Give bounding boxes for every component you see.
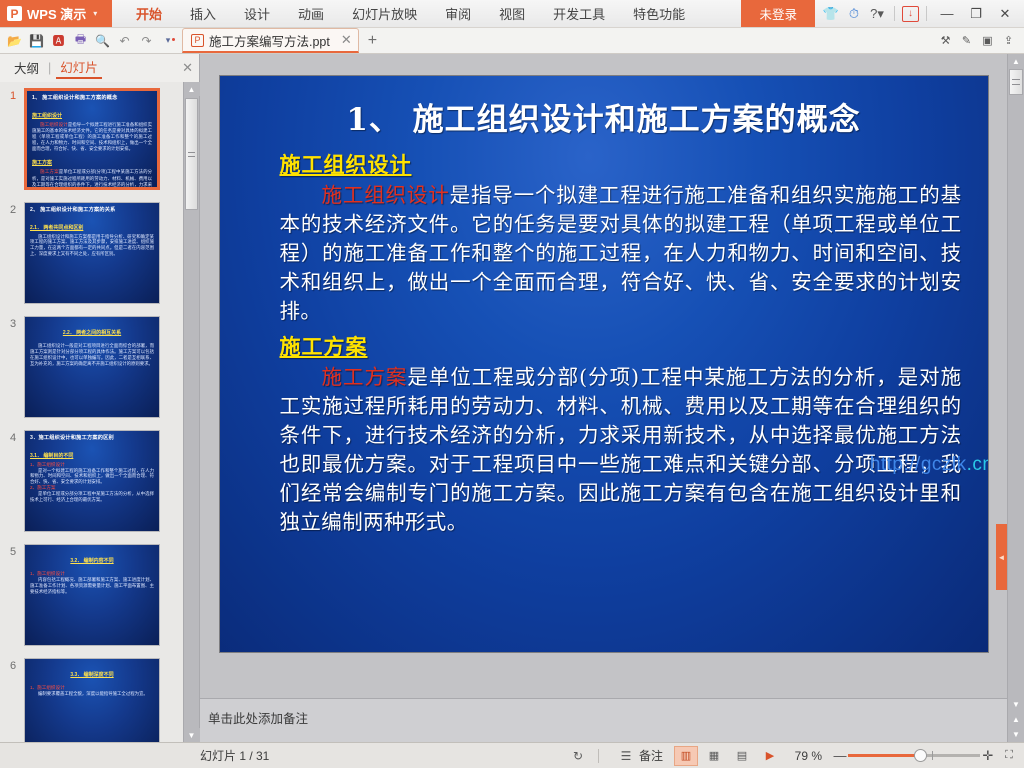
close-panel-icon[interactable]: ✕ — [182, 60, 193, 76]
presentation-icon[interactable]: ▣ — [978, 31, 997, 50]
zoom-midpoint-tick — [932, 751, 933, 760]
thumbnail-list[interactable]: 1 1、 施工组织设计和施工方案的概念 施工组织设计 施工组织设计是指导一个拟建… — [0, 82, 183, 742]
mini-heading: 施工组织设计 — [32, 112, 62, 119]
thumbnail-number: 5 — [2, 544, 24, 558]
scroll-down-icon[interactable]: ▼ — [1008, 697, 1024, 712]
ribbon-tab-start[interactable]: 开始 — [122, 0, 176, 28]
undo-icon[interactable]: ↶ — [114, 30, 135, 52]
scrollbar-thumb[interactable] — [185, 98, 198, 210]
mini-title: 2、 施工组织设计和施工方案的关系 — [30, 207, 154, 214]
wps-presentation-window: P WPS 演示 ▾ 开始 插入 设计 动画 幻灯片放映 审阅 视图 开发工具 … — [0, 0, 1024, 768]
view-normal-button[interactable]: ▥ — [674, 746, 698, 766]
slide-body[interactable]: 施工组织设计 施工组织设计是指导一个拟建工程进行施工准备和组织实施施工的基本的技… — [220, 139, 988, 537]
scroll-down-icon[interactable]: ▼ — [184, 728, 200, 742]
login-status-button[interactable]: 未登录 — [741, 0, 815, 27]
notes-toggle-label: 备注 — [639, 747, 663, 764]
view-sorter-button[interactable]: ▦ — [702, 746, 726, 766]
section-heading-1: 施工组织设计 — [280, 149, 412, 179]
status-bar: 幻灯片 1 / 31 ↻ ☰ 备注 ▥ ▦ ▤ ▶ 79 % — ✛ — [0, 742, 1024, 768]
view-slideshow-button[interactable]: ▶ — [758, 746, 782, 766]
ribbon-tab-view[interactable]: 视图 — [485, 0, 539, 28]
redo-icon[interactable]: ↷ — [136, 30, 157, 52]
ribbon-tab-features[interactable]: 特色功能 — [619, 0, 699, 28]
document-tab-strip: P 施工方案编写方法.ppt ✕ + — [182, 28, 386, 53]
watermark-tld: .cn — [967, 454, 988, 475]
thumbnail-number: 6 — [2, 658, 24, 672]
ribbon-tab-devtools[interactable]: 开发工具 — [539, 0, 619, 28]
quick-access-right-icons: ⚒ ✎ ▣ ⇪ — [936, 28, 1024, 53]
scrollbar-track[interactable] — [184, 96, 200, 728]
mini-heading: 施工方案 — [32, 159, 52, 166]
fit-to-window-button[interactable]: ⛶ — [1000, 747, 1018, 765]
scroll-up-icon[interactable]: ▲ — [1008, 54, 1024, 69]
alarm-icon[interactable]: ⏱ — [844, 4, 864, 24]
thumbnail-preview[interactable]: 2、 施工组织设计和施工方案的关系 2.1． 两者共同点和区别 施工组织设计和施… — [24, 202, 160, 304]
thumbnail-scrollbar[interactable]: ▲ ▼ — [183, 82, 199, 742]
share-icon[interactable]: ⇪ — [999, 31, 1018, 50]
grip-icon — [188, 152, 195, 157]
save-icon[interactable]: 💾 — [26, 30, 47, 52]
thumbnail-preview[interactable]: 2.2． 两者之间的相互关系 施工组织设计一般是对工程项目进行全面而综合的部署，… — [24, 316, 160, 418]
status-right-group: ↻ ☰ 备注 ▥ ▦ ▤ ▶ 79 % — ✛ ⛶ — [568, 746, 1024, 766]
tab-slides[interactable]: 幻灯片 — [56, 57, 102, 79]
maximize-button[interactable]: ❐ — [963, 0, 989, 27]
section-heading-2: 施工方案 — [280, 331, 368, 361]
title-bar: P WPS 演示 ▾ 开始 插入 设计 动画 幻灯片放映 审阅 视图 开发工具 … — [0, 0, 1024, 28]
paragraph-text-2: 是单位工程或分部(分项)工程中某施工方法的分析，是对施工实施过程所耗用的劳动力、… — [280, 365, 962, 535]
chevron-down-icon: ▾ — [166, 35, 171, 46]
ribbon-tab-review[interactable]: 审阅 — [431, 0, 485, 28]
download-icon[interactable]: ↓ — [902, 6, 919, 22]
mini-title: 3.2． 编制内容不同 — [70, 557, 113, 564]
mini-highlight: 施工方案 — [40, 169, 59, 174]
slide-vertical-scrollbar[interactable]: ▲ ▼ ▲ ▼ — [1007, 54, 1024, 742]
main-content-row: 大纲 | 幻灯片 ✕ 1 1、 施工组织设计和施工方案的概念 施工组织设计 施工… — [0, 54, 1024, 742]
close-button[interactable]: ✕ — [992, 0, 1018, 27]
thumbnail-number: 4 — [2, 430, 24, 444]
open-icon[interactable]: 📂 — [4, 30, 25, 52]
thumbnail-item-2[interactable]: 2 2、 施工组织设计和施工方案的关系 2.1． 两者共同点和区别 施工组织设计… — [0, 202, 183, 304]
divider — [598, 749, 599, 763]
collapse-task-pane-button[interactable]: ◄ — [996, 524, 1007, 590]
app-brand-button[interactable]: P WPS 演示 ▾ — [0, 0, 112, 27]
customize-quick-access-icon[interactable]: ▾ — [158, 35, 178, 46]
watermark: http://gczlk.cn — [870, 454, 988, 476]
notes-icon: ☰ — [616, 746, 636, 766]
doc-tab-ppt[interactable]: P 施工方案编写方法.ppt ✕ — [182, 28, 359, 53]
slide-title[interactable]: 1、 施工组织设计和施工方案的概念 — [220, 76, 988, 139]
quick-access-row: 📂 💾 🅰 🖶 🔍 ↶ ↷ ▾ P 施工方案编写方法.ppt ✕ + ⚒ ✎ ▣ — [0, 28, 1024, 54]
zoom-fill — [848, 754, 920, 757]
scrollbar-thumb[interactable] — [1009, 69, 1023, 95]
thumbnail-area: 1 1、 施工组织设计和施工方案的概念 施工组织设计 施工组织设计是指导一个拟建… — [0, 82, 199, 742]
ribbon-tab-design[interactable]: 设计 — [230, 0, 284, 28]
thumbnail-item-1[interactable]: 1 1、 施工组织设计和施工方案的概念 施工组织设计 施工组织设计是指导一个拟建… — [0, 88, 183, 190]
section-paragraph-2: 施工方案是单位工程或分部(分项)工程中某施工方法的分析，是对施工实施过程所耗用的… — [280, 363, 970, 538]
export-pdf-icon[interactable]: 🅰 — [48, 30, 69, 52]
slide-navigator-panel: 大纲 | 幻灯片 ✕ 1 1、 施工组织设计和施工方案的概念 施工组织设计 施工… — [0, 54, 200, 742]
minimize-button[interactable]: — — [934, 0, 960, 27]
highlight-text-2: 施工方案 — [322, 365, 408, 389]
thumbnail-preview[interactable]: 3.2． 编制内容不同 1、施工组织设计 内容包括工程概况、施工部署和施工方案、… — [24, 544, 160, 646]
ribbon-tab-slideshow[interactable]: 幻灯片放映 — [338, 0, 431, 28]
titlebar-icon-group: 👕 ⏱ ?▾ ↓ — ❐ ✕ — [815, 0, 1024, 27]
skin-icon[interactable]: 👕 — [821, 4, 841, 24]
thumbnail-preview[interactable]: 3．施工组织设计和施工方案的区别 3.1． 编制目的不同 1、施工组织设计 是对… — [24, 430, 160, 532]
thumbnail-item-6[interactable]: 6 3.3． 编制深度不同 1、施工组织设计 编制要求覆盖工程全貌，深度以能指导… — [0, 658, 183, 742]
notification-dot — [172, 38, 175, 41]
zoom-track[interactable] — [848, 754, 980, 757]
notes-pane[interactable]: 单击此处添加备注 — [200, 698, 1007, 742]
thumbnail-number: 1 — [2, 88, 24, 102]
scrollbar-track[interactable] — [1008, 69, 1024, 697]
zoom-slider[interactable]: — ✛ — [832, 748, 996, 764]
view-reading-button[interactable]: ▤ — [730, 746, 754, 766]
history-icon[interactable]: ↻ — [568, 746, 588, 766]
previous-slide-icon[interactable]: ▲ — [1008, 712, 1024, 727]
tools-icon[interactable]: ⚒ — [936, 31, 955, 50]
watermark-url: http://gczlk — [870, 454, 967, 475]
grip-icon — [1012, 79, 1020, 85]
zoom-out-button[interactable]: — — [832, 748, 848, 763]
mini-title: 1、 施工组织设计和施工方案的概念 — [32, 95, 152, 102]
thumbnail-item-3[interactable]: 3 2.2． 两者之间的相互关系 施工组织设计一般是对工程项目进行全面而综合的部… — [0, 316, 183, 418]
eyedropper-icon[interactable]: ✎ — [957, 31, 976, 50]
close-icon[interactable]: ✕ — [341, 32, 352, 48]
section-paragraph-1: 施工组织设计是指导一个拟建工程进行施工准备和组织实施施工的基本的技术经济文件。它… — [280, 181, 970, 327]
mini-body: 编制要求覆盖工程全貌，深度以能指导施工全过程为宜。 — [30, 691, 154, 697]
mini-highlight: 施工组织设计 — [40, 122, 68, 127]
mini-body: 施工组织设计一般是对工程项目进行全面而综合的部署，而施工方案则是针对分部分项工程… — [30, 343, 154, 367]
ribbon-tab-insert[interactable]: 插入 — [176, 0, 230, 28]
mini-title: 3.3． 编制深度不同 — [70, 671, 113, 678]
quick-access-toolbar: 📂 💾 🅰 🖶 🔍 ↶ ↷ ▾ — [0, 28, 178, 53]
mini-body: 施工组织设计和施工方案都是用于指导分析、研究和确定某项工程的施工方案、施工方法及… — [30, 234, 154, 258]
zoom-in-button[interactable]: ✛ — [980, 748, 996, 764]
ribbon-tab-animation[interactable]: 动画 — [284, 0, 338, 28]
mini-title: 3．施工组织设计和施工方案的区别 — [30, 435, 154, 442]
slide-canvas-area[interactable]: 1、 施工组织设计和施工方案的概念 施工组织设计 施工组织设计是指导一个拟建工程… — [200, 54, 1007, 698]
thumbnail-item-4[interactable]: 4 3．施工组织设计和施工方案的区别 3.1． 编制目的不同 1、施工组织设计 … — [0, 430, 183, 532]
thumbnail-preview[interactable]: 3.3． 编制深度不同 1、施工组织设计 编制要求覆盖工程全貌，深度以能指导施工… — [24, 658, 160, 742]
chevron-down-icon[interactable]: ▾ — [93, 9, 97, 18]
divider — [894, 6, 895, 21]
wps-logo-icon: P — [7, 6, 22, 21]
thumbnail-number: 3 — [2, 316, 24, 330]
divider — [926, 6, 927, 21]
new-tab-button[interactable]: + — [359, 28, 386, 53]
slide-canvas[interactable]: 1、 施工组织设计和施工方案的概念 施工组织设计 施工组织设计是指导一个拟建工程… — [220, 76, 988, 652]
thumbnail-item-5[interactable]: 5 3.2． 编制内容不同 1、施工组织设计 内容包括工程概况、施工部署和施工方… — [0, 544, 183, 646]
divider: | — [43, 61, 56, 75]
tab-outline[interactable]: 大纲 — [10, 58, 43, 78]
mini-body: 是单位工程或分部分项工程中某施工方法的分析，从中选择技术上可行、经济上合理的最优… — [30, 491, 154, 503]
mini-title: 2.2． 两者之间的相互关系 — [63, 329, 121, 336]
zoom-level-label: 79 % — [786, 749, 828, 763]
ribbon-tab-strip: 开始 插入 设计 动画 幻灯片放映 审阅 视图 开发工具 特色功能 — [112, 0, 741, 27]
thumbnail-preview[interactable]: 1、 施工组织设计和施工方案的概念 施工组织设计 施工组织设计是指导一个拟建工程… — [24, 88, 160, 190]
app-brand-label: WPS 演示 — [27, 4, 86, 23]
scroll-up-icon[interactable]: ▲ — [184, 82, 200, 96]
doc-tab-label: 施工方案编写方法.ppt — [209, 31, 330, 50]
mini-body: 内容包括工程概况、施工部署和施工方案、施工进度计划、施工准备工作计划、各项资源需… — [30, 577, 154, 595]
mini-heading: 2.1． 两者共同点和区别 — [30, 224, 83, 231]
navigator-header: 大纲 | 幻灯片 ✕ — [0, 54, 199, 82]
presentation-file-icon: P — [191, 34, 204, 47]
print-preview-icon[interactable]: 🔍 — [92, 30, 113, 52]
thumbnail-number: 2 — [2, 202, 24, 216]
highlight-text-1: 施工组织设计 — [322, 183, 450, 207]
zoom-handle[interactable] — [914, 749, 927, 762]
notes-toggle-button[interactable]: ☰ 备注 — [609, 746, 670, 766]
print-icon[interactable]: 🖶 — [70, 30, 91, 52]
help-icon[interactable]: ?▾ — [867, 4, 887, 24]
slide-position-label: 幻灯片 1 / 31 — [200, 747, 269, 764]
mini-body: 是对一个拟建工程的施工准备工作和整个施工过程，在人力和物力、时间和空间、技术和组… — [30, 468, 154, 486]
editor-center-column: 1、 施工组织设计和施工方案的概念 施工组织设计 施工组织设计是指导一个拟建工程… — [200, 54, 1007, 742]
mini-heading: 3.1． 编制目的不同 — [30, 452, 73, 459]
next-slide-icon[interactable]: ▼ — [1008, 727, 1024, 742]
